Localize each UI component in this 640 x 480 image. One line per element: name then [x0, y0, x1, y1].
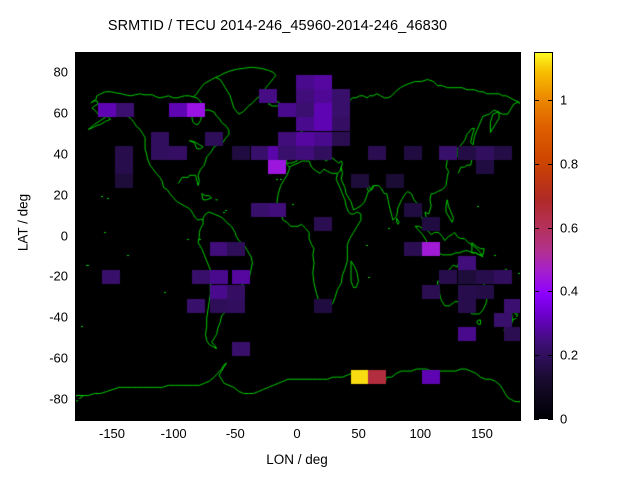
y-tick-mark — [75, 399, 80, 400]
x-tick-mark — [174, 414, 175, 419]
x-tick-mark — [482, 52, 483, 57]
y-tick-mark — [514, 72, 519, 73]
y-tick-mark — [514, 276, 519, 277]
x-tick-mark — [235, 414, 236, 419]
x-tick-label: -100 — [161, 426, 187, 441]
y-tick-mark — [514, 154, 519, 155]
colorbar-tick-label: 0.2 — [560, 348, 578, 363]
y-tick-mark — [75, 236, 80, 237]
x-tick-mark — [359, 52, 360, 57]
colorbar-tick-mark — [548, 100, 553, 101]
colorbar-tick-mark — [548, 291, 553, 292]
x-tick-mark — [420, 414, 421, 419]
x-tick-mark — [297, 414, 298, 419]
colorbar-tick-mark — [548, 164, 553, 165]
x-tick-mark — [235, 52, 236, 57]
colorbar-tick-label: 0 — [560, 412, 567, 427]
colorbar-tick-mark — [548, 228, 553, 229]
x-tick-mark — [482, 414, 483, 419]
y-tick-label: 0 — [28, 228, 68, 243]
colorbar-tick-mark — [548, 419, 553, 420]
y-tick-mark — [514, 236, 519, 237]
page-title: SRMTID / TECU 2014-246_45960-2014-246_46… — [0, 18, 555, 34]
y-tick-mark — [75, 154, 80, 155]
figure-root: SRMTID / TECU 2014-246_45960-2014-246_46… — [0, 0, 640, 480]
y-tick-mark — [75, 358, 80, 359]
y-tick-label: 60 — [28, 106, 68, 121]
y-tick-mark — [75, 72, 80, 73]
x-tick-label: 150 — [471, 426, 493, 441]
colorbar-tick-mark — [534, 228, 539, 229]
y-tick-label: -60 — [28, 350, 68, 365]
x-tick-label: 50 — [351, 426, 365, 441]
x-tick-label: -150 — [99, 426, 125, 441]
colorbar-tick-mark — [548, 355, 553, 356]
y-tick-label: 40 — [28, 146, 68, 161]
x-tick-mark — [297, 52, 298, 57]
y-tick-mark — [514, 195, 519, 196]
y-tick-mark — [75, 317, 80, 318]
x-tick-label: 0 — [293, 426, 300, 441]
x-tick-label: 100 — [409, 426, 431, 441]
coastline-map — [76, 53, 520, 420]
x-tick-mark — [174, 52, 175, 57]
plot-area — [75, 52, 521, 421]
x-tick-mark — [112, 52, 113, 57]
x-tick-label: -50 — [226, 426, 245, 441]
colorbar-gradient — [534, 52, 553, 419]
y-tick-label: 80 — [28, 65, 68, 80]
x-tick-mark — [359, 414, 360, 419]
y-tick-label: -80 — [28, 391, 68, 406]
colorbar-tick-label: 0.8 — [560, 156, 578, 171]
y-tick-mark — [514, 358, 519, 359]
x-tick-mark — [112, 414, 113, 419]
colorbar-tick-mark — [534, 355, 539, 356]
y-tick-mark — [514, 399, 519, 400]
y-tick-mark — [75, 276, 80, 277]
colorbar-tick-label: 0.6 — [560, 220, 578, 235]
x-tick-mark — [420, 52, 421, 57]
y-tick-label: -40 — [28, 310, 68, 325]
y-tick-mark — [514, 317, 519, 318]
colorbar-tick-mark — [534, 100, 539, 101]
y-tick-mark — [75, 113, 80, 114]
colorbar-tick-mark — [534, 291, 539, 292]
colorbar-tick-label: 1 — [560, 92, 567, 107]
colorbar-tick-mark — [534, 164, 539, 165]
y-tick-mark — [75, 195, 80, 196]
y-tick-label: -20 — [28, 269, 68, 284]
colorbar-tick-mark — [534, 419, 539, 420]
y-tick-label: 20 — [28, 187, 68, 202]
x-axis-title: LON / deg — [75, 452, 519, 467]
colorbar — [534, 52, 553, 419]
colorbar-tick-label: 0.4 — [560, 284, 578, 299]
y-tick-mark — [514, 113, 519, 114]
